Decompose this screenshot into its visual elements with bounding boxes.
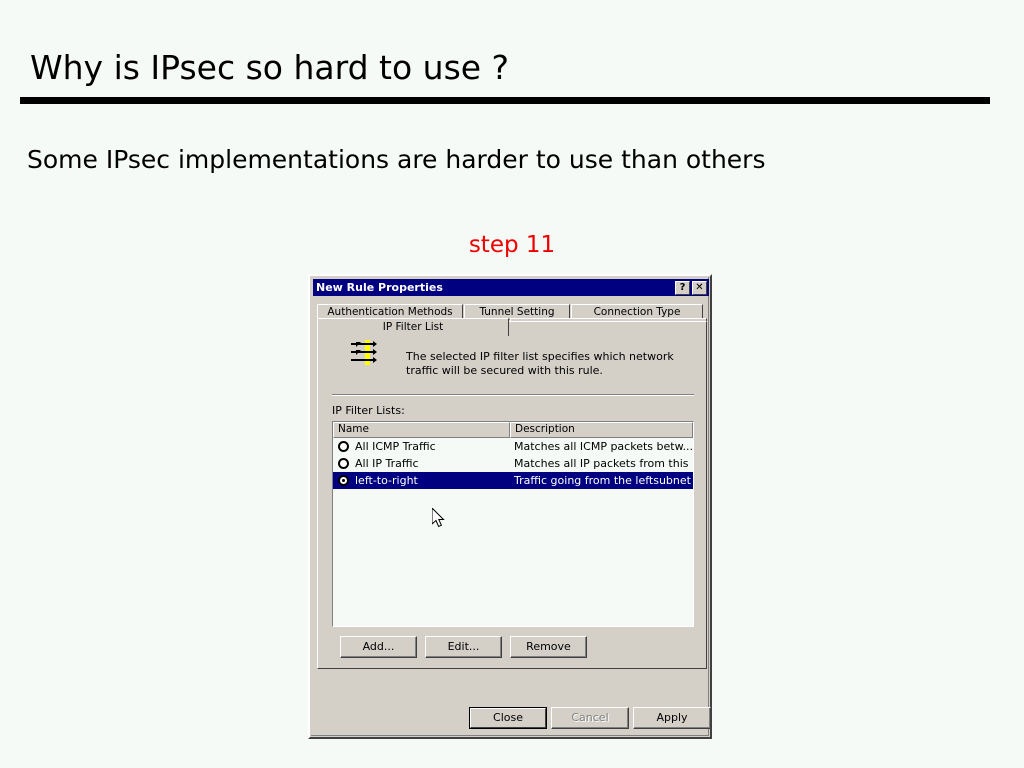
radio-button-icon[interactable] bbox=[338, 441, 349, 452]
row-description-cell: Traffic going from the leftsubnet ... bbox=[510, 474, 693, 487]
remove-button[interactable]: Remove bbox=[510, 636, 587, 658]
new-rule-properties-dialog: New Rule Properties ? ✕ Authentication M… bbox=[308, 274, 712, 739]
radio-button-icon[interactable] bbox=[338, 458, 349, 469]
slide-subtitle: Some IPsec implementations are harder to… bbox=[27, 145, 766, 174]
remove-button-label: Remove bbox=[526, 640, 571, 653]
title-divider bbox=[20, 97, 990, 104]
page-description: The selected IP filter list specifies wh… bbox=[406, 350, 696, 378]
apply-button[interactable]: Apply bbox=[633, 707, 711, 729]
row-name-cell: All IP Traffic bbox=[333, 457, 510, 470]
row-name-text: left-to-right bbox=[355, 474, 418, 487]
description-separator bbox=[332, 394, 694, 396]
add-button-label: Add... bbox=[363, 640, 395, 653]
ip-filter-list-icon bbox=[348, 337, 380, 369]
apply-button-label: Apply bbox=[656, 711, 687, 724]
listview-header: Name Description bbox=[333, 422, 693, 438]
cancel-button-label: Cancel bbox=[571, 711, 608, 724]
column-header-description[interactable]: Description bbox=[510, 422, 693, 438]
close-button[interactable]: Close bbox=[469, 707, 547, 729]
edit-button[interactable]: Edit... bbox=[425, 636, 502, 658]
ip-filter-lists-label: IP Filter Lists: bbox=[332, 404, 405, 417]
row-name-cell: All ICMP Traffic bbox=[333, 440, 510, 453]
tab-row-upper: Authentication Methods Tunnel Setting Co… bbox=[317, 304, 707, 319]
close-icon[interactable]: ✕ bbox=[692, 281, 707, 295]
cancel-button: Cancel bbox=[551, 707, 629, 729]
close-button-label: Close bbox=[493, 711, 523, 724]
row-name-text: All IP Traffic bbox=[355, 457, 419, 470]
dialog-titlebar[interactable]: New Rule Properties ? ✕ bbox=[313, 279, 709, 296]
page-title: Why is IPsec so hard to use ? bbox=[30, 48, 509, 87]
help-icon[interactable]: ? bbox=[675, 281, 690, 295]
dialog-title-text: New Rule Properties bbox=[316, 281, 443, 294]
row-description-cell: Matches all IP packets from this ... bbox=[510, 457, 693, 470]
step-label: step 11 bbox=[0, 232, 1024, 258]
ip-filter-lists-listview[interactable]: Name Description All ICMP Traffic Matche… bbox=[332, 421, 694, 627]
add-button[interactable]: Add... bbox=[340, 636, 417, 658]
row-name-cell: left-to-right bbox=[333, 474, 510, 487]
row-name-text: All ICMP Traffic bbox=[355, 440, 436, 453]
radio-button-checked-icon[interactable] bbox=[338, 475, 349, 486]
table-row-selected[interactable]: left-to-right Traffic going from the lef… bbox=[333, 472, 693, 489]
edit-button-label: Edit... bbox=[448, 640, 480, 653]
table-row[interactable]: All IP Traffic Matches all IP packets fr… bbox=[333, 455, 693, 472]
row-description-cell: Matches all ICMP packets betw... bbox=[510, 440, 693, 453]
tab-ip-filter-list[interactable]: IP Filter List bbox=[317, 318, 509, 336]
table-row[interactable]: All ICMP Traffic Matches all ICMP packet… bbox=[333, 438, 693, 455]
ip-filter-list-page: The selected IP filter list specifies wh… bbox=[317, 321, 707, 669]
column-header-name[interactable]: Name bbox=[333, 422, 510, 438]
